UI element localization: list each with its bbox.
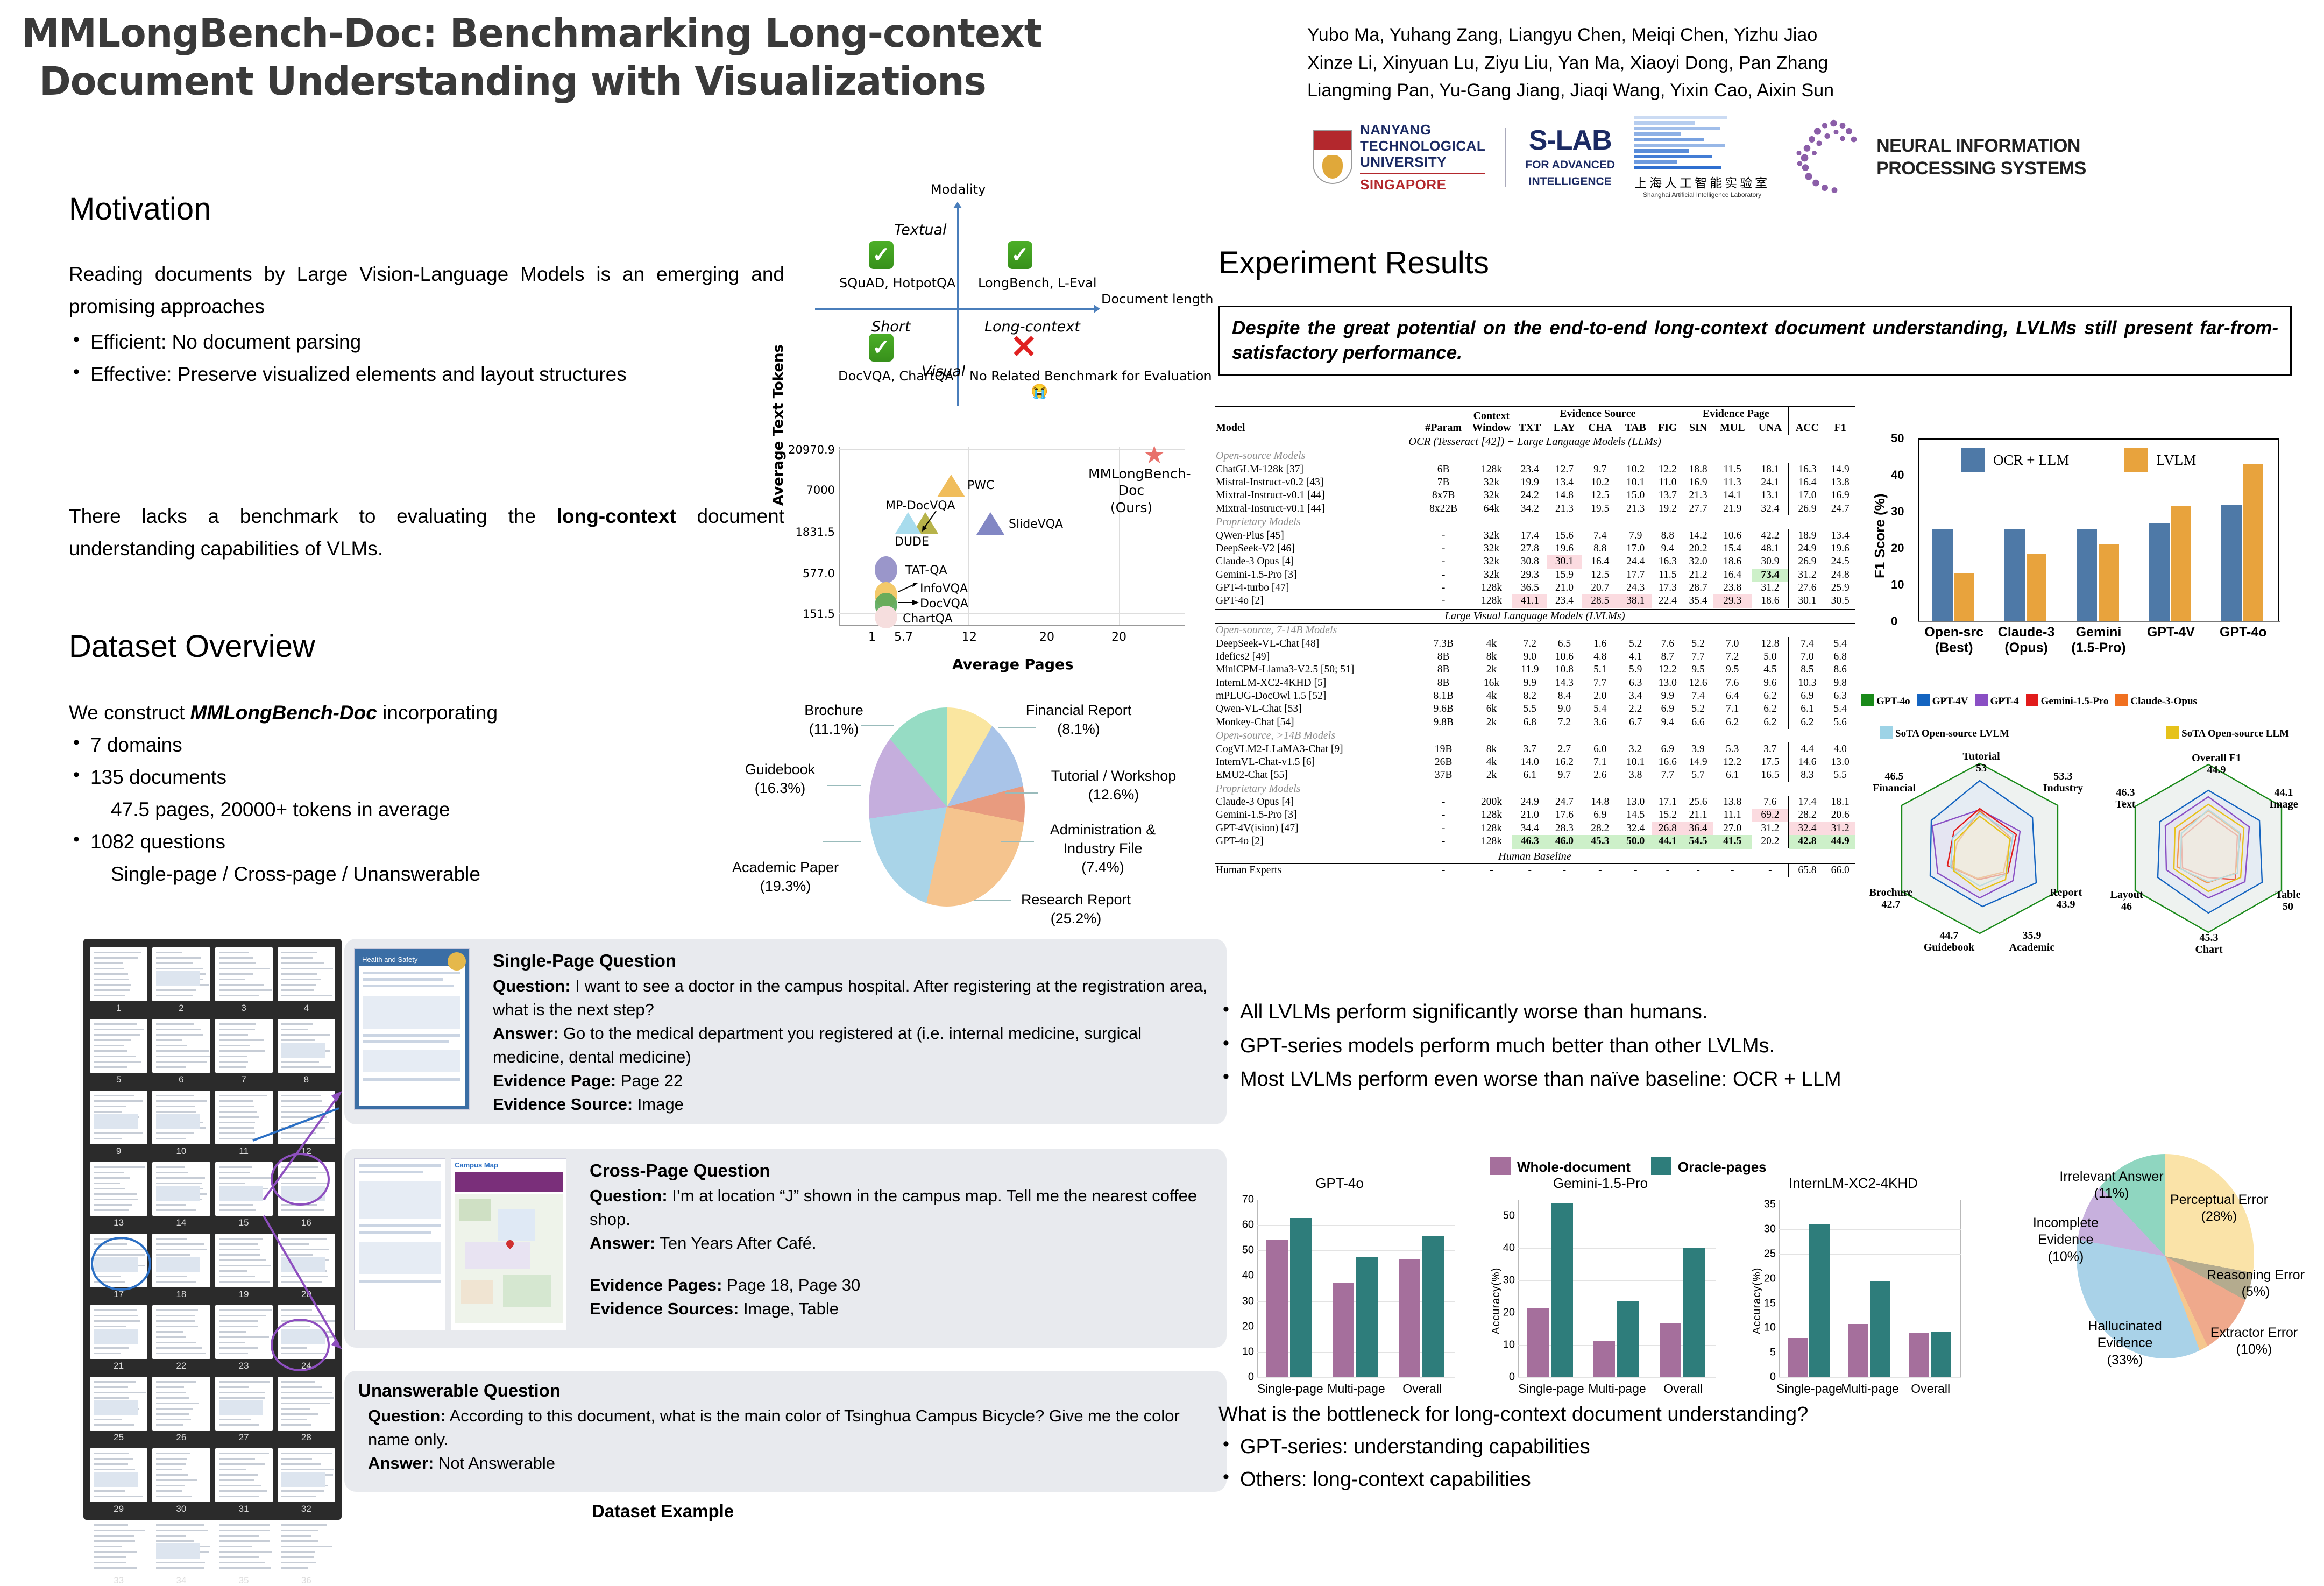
table-cell-context: 128k: [1471, 835, 1512, 849]
table-cell-value: 6.2: [1713, 716, 1752, 729]
radar-charts: GPT-4o GPT-4V GPT-4 Gemini-1.5-Pro Claud…: [1856, 689, 2308, 958]
thumbnail-cell[interactable]: 9: [90, 1091, 147, 1157]
table-cell-value: 6.1: [1512, 769, 1547, 782]
f1chart-bar: [1954, 573, 1974, 621]
table-cell-model: DeepSeek-V2 [46]: [1215, 542, 1416, 555]
table-section-row: Large Visual Language Models (LVLMs): [1215, 608, 1855, 623]
thumbnail-cell[interactable]: 36: [278, 1520, 335, 1586]
thumbnail-page[interactable]: [215, 1305, 273, 1359]
pie-label-brochure: Brochure (11.1%): [780, 701, 888, 739]
table-cell-value: 9.6: [1752, 677, 1788, 690]
th-fig: FIG: [1652, 421, 1683, 435]
thumbnail-cell[interactable]: 26: [152, 1377, 210, 1443]
table-cell-value: 34.2: [1512, 502, 1547, 515]
thumbnail-page[interactable]: [215, 947, 273, 1001]
motivation-lead: Reading documents by Large Vision-Langua…: [69, 258, 784, 323]
checkmark-icon-visual-short: ✓: [869, 334, 894, 362]
thumbnail-page[interactable]: [152, 1234, 210, 1287]
table-cell-value: 8.4: [1547, 690, 1582, 703]
table-cell-value: 9.4: [1652, 716, 1683, 729]
quadrant-y-axis-label: Modality: [931, 182, 986, 197]
f1chart-bar: [2149, 523, 2170, 621]
table-cell-value: 8.2: [1512, 690, 1547, 703]
bar-chart-y-tick: 30: [1756, 1223, 1776, 1236]
table-row: Mistral-Instruct-v0.2 [43]7B32k19.913.41…: [1215, 476, 1855, 489]
thumbnail-cell[interactable]: 21: [90, 1305, 147, 1371]
table-cell-value: 18.8: [1683, 463, 1713, 476]
thumbnail-cell[interactable]: 34: [152, 1520, 210, 1586]
thumbnail-page[interactable]: [90, 1520, 147, 1574]
thumbnail-cell[interactable]: 13: [90, 1162, 147, 1228]
thumbnail-cell[interactable]: 22: [152, 1305, 210, 1371]
scatter-point-chartqa-label: ChartQA: [903, 612, 953, 626]
single-page-evidence-source-value: Image: [633, 1095, 684, 1114]
scatter-y-tick-1: 577.0: [785, 567, 835, 580]
table-cell-value: 6.3: [1825, 690, 1855, 703]
table-cell-value: 16.4: [1789, 476, 1825, 489]
table-row: InternVL-Chat-v1.5 [6]26B4k14.016.27.110…: [1215, 756, 1855, 769]
table-cell-value: 3.7: [1512, 742, 1547, 755]
thumbnail-page[interactable]: [278, 947, 335, 1001]
table-cell-value: 7.4: [1789, 637, 1825, 650]
cross-page-question: Question: I’m at location “J” shown in t…: [590, 1184, 1213, 1231]
thumbnail-page[interactable]: [90, 1305, 147, 1359]
table-cell-value: 48.1: [1752, 542, 1788, 555]
errpie-label-incomplete: Incomplete Evidence(10%): [2009, 1215, 2122, 1265]
bar-chart-y-tick: 0: [1496, 1371, 1515, 1384]
table-cell-value: 11.3: [1713, 476, 1752, 489]
bar-chart-bar: [1809, 1224, 1829, 1377]
bottom-legend-whole: Whole-document: [1490, 1157, 1631, 1176]
cross-page-thumbnail-map: Campus Map: [451, 1158, 566, 1330]
table-cell-value: 21.9: [1713, 502, 1752, 515]
radar-label-tutorial: Tutorial53: [1946, 750, 2016, 775]
table-cell-value: 5.4: [1582, 703, 1619, 716]
scatter-arrow-infovqa-icon: [897, 582, 921, 594]
table-row: DeepSeek-V2 [46]-32k27.819.68.817.09.420…: [1215, 542, 1855, 555]
table-cell-context: 16k: [1471, 677, 1512, 690]
table-cell-value: 30.9: [1752, 555, 1788, 568]
table-cell-value: 13.0: [1652, 677, 1683, 690]
thumbnail-page-number: 30: [152, 1504, 210, 1514]
thumbnail-page-number: 2: [152, 1003, 210, 1014]
f1-score-bar-chart: F1 Score (%) 01020304050 Open-src(Best)C…: [1859, 417, 2305, 675]
table-cell-model: Mixtral-Instruct-v0.1 [44]: [1215, 489, 1416, 502]
table-cell-value: 14.8: [1547, 489, 1582, 502]
table-cell-value: 12.2: [1713, 756, 1752, 769]
th-cha: CHA: [1582, 421, 1619, 435]
table-cell-value: 6.3: [1619, 677, 1652, 690]
single-page-question-text: I want to see a doctor in the campus hos…: [493, 976, 1207, 1019]
single-page-question-card: Health and Safety Single-Page Question Q…: [344, 939, 1227, 1124]
scatter-x-tick-0: 1: [868, 631, 876, 644]
modality-length-quadrant-diagram: Modality Document length Textual Short L…: [769, 178, 1243, 414]
bar-chart-bar: [1333, 1283, 1354, 1377]
bar-chart-gridline: [1779, 1377, 1961, 1378]
th-txt: TXT: [1512, 421, 1547, 435]
bar-chart-y-tick: 50: [1496, 1210, 1515, 1222]
table-cell-model: Gemini-1.5-Pro [3]: [1215, 809, 1416, 822]
pie-label-guidebook: Guidebook (16.3%): [726, 760, 834, 798]
table-cell-context: 2k: [1471, 663, 1512, 676]
thumbnail-page[interactable]: [278, 1520, 335, 1574]
pie-label-financial: Financial Report (8.1%): [1011, 701, 1146, 739]
thumbnail-page[interactable]: [215, 1448, 273, 1502]
thumbnail-page[interactable]: [90, 1019, 147, 1073]
thumbnail-page[interactable]: [152, 1305, 210, 1359]
thumbnail-page-number: 25: [90, 1432, 147, 1443]
cross-page-answer-label: Answer:: [590, 1234, 655, 1252]
motivation-heading: Motivation: [69, 191, 211, 227]
single-page-question-label: Question:: [493, 976, 571, 995]
bar-chart-x-tick: Overall: [1386, 1382, 1458, 1396]
thumbnail-page[interactable]: [152, 947, 210, 1001]
thumbnail-page[interactable]: [152, 1520, 210, 1574]
pie-label-brochure-text: Brochure: [804, 702, 863, 718]
thumbnail-page-number: 4: [278, 1003, 335, 1014]
unanswerable-question: Question: According to this document, wh…: [358, 1404, 1213, 1452]
thumbnail-page[interactable]: [152, 1162, 210, 1216]
table-cell-value: 6.6: [1683, 716, 1713, 729]
results-table: Model #Param ContextWindow Evidence Sour…: [1215, 406, 1855, 877]
table-cell-value: 14.0: [1512, 756, 1547, 769]
thumbnail-page-number: 3: [215, 1003, 273, 1014]
motivation-bullet-list: Efficient: No document parsing Effective…: [69, 326, 784, 391]
thumbnail-cell[interactable]: 31: [215, 1448, 273, 1514]
table-cell-value: 8.8: [1652, 529, 1683, 542]
thumbnail-cell[interactable]: 14: [152, 1162, 210, 1228]
thumbnail-cell[interactable]: 3: [215, 947, 273, 1014]
table-cell-context: 4k: [1471, 637, 1512, 650]
single-page-card-title: Single-Page Question: [493, 951, 1213, 971]
table-cell-value: 6.2: [1752, 703, 1788, 716]
table-cell-value: 16.3: [1789, 463, 1825, 476]
pie-label-research-value: (25.2%): [1051, 910, 1102, 926]
shanghai-bars-icon: [1634, 116, 1731, 169]
table-cell-value: 6.0: [1582, 742, 1619, 755]
error-type-pie-chart: Perceptual Error(28%) Reasoning Error(5%…: [1990, 1135, 2324, 1372]
table-cell-value: 13.0: [1825, 756, 1855, 769]
thumbnail-cell[interactable]: 23: [215, 1305, 273, 1371]
bar-chart-x-tick: Multi-page: [1581, 1382, 1654, 1396]
table-cell-param: 6B: [1416, 463, 1471, 476]
thumbnail-page[interactable]: [215, 1377, 273, 1431]
cross-page-evidence-pages-label: Evidence Pages:: [590, 1276, 722, 1294]
table-cell-model: Mistral-Instruct-v0.2 [43]: [1215, 476, 1416, 489]
thumbnail-cell[interactable]: 15: [215, 1162, 273, 1228]
table-cell-context: 32k: [1471, 569, 1512, 582]
table-cell-value: 31.2: [1825, 822, 1855, 835]
bar-chart-gridline: [1779, 1229, 1961, 1230]
table-cell-value: 11.0: [1652, 476, 1683, 489]
thumbnail-page-number: 16: [278, 1217, 335, 1228]
table-cell-value: 12.2: [1652, 463, 1683, 476]
radar-label-industry: 53.3Industry: [2028, 770, 2098, 795]
quadrant-item-docvqa: DocVQA, ChartQA: [838, 369, 954, 384]
scatter-y-tick-3: 7000: [785, 484, 835, 497]
table-cell-value: 10.2: [1582, 476, 1619, 489]
table-cell-value: 6.1: [1713, 769, 1752, 782]
table-cell-value: -: [1713, 863, 1752, 877]
scatter-gridline: [839, 532, 1185, 532]
table-cell-value: 23.4: [1547, 594, 1582, 608]
thumbnail-page[interactable]: [215, 1234, 273, 1287]
thumbnail-page-number: 19: [215, 1289, 273, 1300]
thumbnail-cell[interactable]: 8: [278, 1019, 335, 1085]
unanswerable-card-title: Unanswerable Question: [358, 1380, 1213, 1401]
table-cell-context: 8k: [1471, 742, 1512, 755]
table-cell-value: 50.0: [1619, 835, 1652, 849]
pie-leader-line: [974, 900, 1011, 901]
dataset-name-bold: MMLongBench-Doc: [190, 702, 377, 724]
table-cell-value: 28.2: [1582, 822, 1619, 835]
table-cell-context: 64k: [1471, 502, 1512, 515]
f1chart-bar: [2221, 505, 2242, 621]
table-cell-value: 23.4: [1512, 463, 1547, 476]
thumbnail-cell[interactable]: 12: [278, 1091, 335, 1157]
table-cell-value: 6.1: [1789, 703, 1825, 716]
table-cell-model: EMU2-Chat [55]: [1215, 769, 1416, 782]
table-cell-context: 2k: [1471, 716, 1512, 729]
thumbnail-cell[interactable]: 29: [90, 1448, 147, 1514]
thumbnail-cell[interactable]: 7: [215, 1019, 273, 1085]
th-tab: TAB: [1619, 421, 1652, 435]
unanswerable-question-label: Question:: [368, 1406, 446, 1425]
thumbnail-page[interactable]: [278, 1377, 335, 1431]
table-cell-value: 7.7: [1683, 650, 1713, 663]
table-cell-value: 10.2: [1619, 463, 1652, 476]
cross-page-thumb-title: Campus Map: [451, 1159, 566, 1171]
table-cell-value: -: [1619, 863, 1652, 877]
quadrant-item-none: No Related Benchmark for Evaluation: [969, 369, 1212, 384]
table-cell-value: 24.7: [1547, 796, 1582, 809]
thumbnail-page[interactable]: [278, 1234, 335, 1287]
thumbnail-page[interactable]: [90, 1091, 147, 1144]
table-cell-model: GPT-4o [2]: [1215, 835, 1416, 849]
radar-legend-row-2: SoTA Open-source LVLM SoTA Open-source L…: [1880, 726, 2289, 740]
radar-legend-gpt4o: GPT-4o: [1861, 694, 1910, 707]
table-cell-value: 31.2: [1752, 822, 1788, 835]
table-cell-value: 10.1: [1619, 476, 1652, 489]
document-thumbnail-panel: 1234567891011121314151617181920212223242…: [83, 939, 342, 1520]
slab-sub-1: FOR ADVANCED: [1525, 157, 1615, 174]
bar-chart-y-tick: 40: [1235, 1270, 1254, 1282]
table-cell-value: 24.3: [1619, 582, 1652, 594]
pie-leader-line: [1005, 792, 1038, 794]
neurips-line-2: PROCESSING SYSTEMS: [1876, 157, 2086, 180]
thumbnail-page[interactable]: [152, 1377, 210, 1431]
table-cell-value: 32.0: [1683, 555, 1713, 568]
th-mul: MUL: [1713, 421, 1752, 435]
dataset-lead-a: We construct: [69, 702, 190, 724]
table-cell-value: 13.0: [1619, 796, 1652, 809]
table-cell-param: -: [1416, 529, 1471, 542]
thumbnail-page[interactable]: [152, 1091, 210, 1144]
table-cell-value: 10.6: [1713, 529, 1752, 542]
table-cell-value: 15.6: [1547, 529, 1582, 542]
thumbnail-cell[interactable]: 30: [152, 1448, 210, 1514]
bar-chart-bar: [1290, 1218, 1312, 1377]
thumbnail-page-number: 8: [278, 1074, 335, 1085]
thumbnail-page-number: 15: [215, 1217, 273, 1228]
table-row: Mixtral-Instruct-v0.1 [44]8x7B32k24.214.…: [1215, 489, 1855, 502]
table-cell-value: 20.2: [1683, 542, 1713, 555]
pie-leader-line: [823, 841, 861, 842]
thumbnail-page[interactable]: [152, 1448, 210, 1502]
thumbnail-page[interactable]: [152, 1019, 210, 1073]
scatter-y-tick-0: 151.5: [785, 607, 835, 620]
bar-chart-y-tick: 0: [1756, 1371, 1776, 1384]
table-cell-value: 14.5: [1619, 809, 1652, 822]
table-cell-value: 26.9: [1789, 502, 1825, 515]
table-cell-value: 54.5: [1683, 835, 1713, 849]
table-cell-value: 13.7: [1652, 489, 1683, 502]
table-cell-param: 19B: [1416, 742, 1471, 755]
thumbnail-page[interactable]: [278, 1091, 335, 1144]
scatter-point-infovqa-label: InfoVQA: [920, 582, 968, 596]
table-cell-value: 16.2: [1547, 756, 1582, 769]
table-cell-context: 128k: [1471, 809, 1512, 822]
table-cell-value: 31.2: [1789, 569, 1825, 582]
radar-label-chart: 45.3Chart: [2177, 932, 2241, 956]
single-page-question: Question: I want to see a doctor in the …: [493, 974, 1213, 1022]
scatter-point-mmlongbench-marker: ★: [1143, 442, 1165, 467]
table-cell-value: 18.6: [1752, 594, 1788, 608]
bar-chart-x-tick: Overall: [1647, 1382, 1719, 1396]
table-cell-value: 3.7: [1752, 742, 1788, 755]
table-cell-value: 20.7: [1582, 582, 1619, 594]
table-cell-value: 2.0: [1582, 690, 1619, 703]
motivation-bullet-2: Effective: Preserve visualized elements …: [69, 358, 784, 391]
table-cell-value: 8.8: [1582, 542, 1619, 555]
table-cell-value: 5.4: [1825, 637, 1855, 650]
cross-page-evidence-sources-value: Image, Table: [739, 1299, 839, 1318]
table-row: GPT-4-turbo [47]-128k36.521.020.724.317.…: [1215, 582, 1855, 594]
thumbnail-cell[interactable]: 25: [90, 1377, 147, 1443]
bar-chart-bar: [1683, 1248, 1705, 1377]
table-cell-value: 8.6: [1825, 663, 1855, 676]
table-cell-value: 7.2: [1547, 716, 1582, 729]
thumbnail-cell[interactable]: 32: [278, 1448, 335, 1514]
bar-chart-gridline: [1257, 1200, 1455, 1200]
table-cell-value: 20.6: [1825, 809, 1855, 822]
thumbnail-page[interactable]: [215, 1520, 273, 1574]
table-cell-value: 16.6: [1652, 756, 1683, 769]
bar-chart-y-tick: 5: [1756, 1347, 1776, 1359]
radar-legend-sota-lvlm: SoTA Open-source LVLM: [1880, 726, 2009, 740]
table-cell-value: 27.0: [1713, 822, 1752, 835]
bar-chart-y-tick: 20: [1235, 1320, 1254, 1333]
cross-page-evidence-pages: Evidence Pages: Page 18, Page 30: [590, 1273, 1213, 1297]
thumbnail-page[interactable]: [90, 1377, 147, 1431]
thumbnail-page[interactable]: [90, 1448, 147, 1502]
pie-label-research-text: Research Report: [1021, 891, 1131, 908]
thumbnail-cell[interactable]: 6: [152, 1019, 210, 1085]
table-cell-model: Monkey-Chat [54]: [1215, 716, 1416, 729]
thumbnail-cell[interactable]: 5: [90, 1019, 147, 1085]
thumbnail-cell[interactable]: 10: [152, 1091, 210, 1157]
bar-chart-bar: [1551, 1203, 1572, 1377]
thumbnail-cell[interactable]: 28: [278, 1377, 335, 1443]
thumbnail-page-number: 18: [152, 1289, 210, 1300]
table-cell-value: 7.7: [1582, 677, 1619, 690]
table-cell-model: MiniCPM-Llama3-V2.5 [50; 51]: [1215, 663, 1416, 676]
errpie-label-reasoning: Reasoning Error(5%): [2194, 1267, 2318, 1301]
thumbnail-cell[interactable]: 19: [215, 1234, 273, 1300]
thumbnail-page[interactable]: [278, 1019, 335, 1073]
table-cell-value: 22.4: [1652, 594, 1683, 608]
thumbnail-page-number: 34: [152, 1575, 210, 1586]
table-cell-value: 19.2: [1652, 502, 1683, 515]
bottom-charts-legend: Whole-document Oracle-pages: [1490, 1157, 1767, 1176]
single-page-answer-text: Go to the medical department you registe…: [493, 1024, 1142, 1066]
thumbnail-page[interactable]: [215, 1091, 273, 1144]
cross-page-question-label: Question:: [590, 1186, 668, 1205]
table-cell-value: 41.5: [1713, 835, 1752, 849]
table-cell-value: 17.4: [1512, 529, 1547, 542]
thumbnail-page[interactable]: [215, 1162, 273, 1216]
table-cell-param: 7.3B: [1416, 637, 1471, 650]
author-list: Yubo Ma, Yuhang Zang, Liangyu Chen, Meiq…: [1307, 22, 1953, 105]
table-cell-model: InternVL-Chat-v1.5 [6]: [1215, 756, 1416, 769]
table-cell-value: 13.8: [1825, 476, 1855, 489]
table-cell-value: 17.1: [1652, 796, 1683, 809]
thumbnail-cell[interactable]: 33: [90, 1520, 147, 1586]
th-una: UNA: [1752, 421, 1788, 435]
table-cell-value: 12.5: [1582, 569, 1619, 582]
experiment-results-heading: Experiment Results: [1218, 245, 1489, 281]
thumbnail-cell[interactable]: 20: [278, 1234, 335, 1300]
thumbnail-cell[interactable]: 2: [152, 947, 210, 1014]
pie-label-guidebook-text: Guidebook: [745, 761, 816, 777]
table-cell-value: 27.7: [1683, 502, 1713, 515]
table-cell-value: 17.5: [1752, 756, 1788, 769]
table-cell-value: 5.6: [1825, 716, 1855, 729]
thumbnail-cell[interactable]: 18: [152, 1234, 210, 1300]
bar-chart-bar: [1788, 1338, 1808, 1377]
table-cell-value: 3.2: [1619, 742, 1652, 755]
bar-chart-bar: [1617, 1301, 1639, 1377]
thumbnail-cell[interactable]: 4: [278, 947, 335, 1014]
f1chart-y-tick: 40: [1891, 468, 1904, 482]
thumbnail-page[interactable]: [215, 1019, 273, 1073]
radar-legend-gemini: Gemini-1.5-Pro: [2026, 694, 2109, 707]
scatter-x-tick-2: 12: [962, 631, 977, 644]
f1chart-bar: [2027, 554, 2047, 621]
scatter-point-slidevqa-label: SlideVQA: [1009, 518, 1063, 531]
table-cell-value: 14.3: [1547, 677, 1582, 690]
single-page-evidence-page: Evidence Page: Page 22: [493, 1069, 1213, 1093]
table-cell-value: 23.8: [1713, 582, 1752, 594]
thumbnail-page[interactable]: [278, 1448, 335, 1502]
thumbnail-page[interactable]: [90, 947, 147, 1001]
thumbnail-page[interactable]: [90, 1162, 147, 1216]
table-cell-param: 37B: [1416, 769, 1471, 782]
thumbnail-cell[interactable]: 11: [215, 1091, 273, 1157]
thumbnail-page-number: 1: [90, 1003, 147, 1014]
thumbnail-cell[interactable]: 27: [215, 1377, 273, 1443]
table-cell-value: 66.0: [1825, 863, 1855, 877]
cross-page-card-title: Cross-Page Question: [590, 1160, 1213, 1181]
thumbnail-cell[interactable]: 35: [215, 1520, 273, 1586]
domain-distribution-pie-chart: Brochure (11.1%) Financial Report (8.1%)…: [678, 675, 1227, 939]
thumbnail-cell[interactable]: 1: [90, 947, 147, 1014]
radar-legend-gpt4: GPT-4: [1975, 694, 2019, 707]
f1chart-legend-label-ocr: OCR + LLM: [1993, 452, 2069, 469]
radar-label-image: 44.1Image: [2254, 787, 2313, 811]
table-cell-value: 7.6: [1652, 637, 1683, 650]
table-row: CogVLM2-LLaMA3-Chat [9]19B8k3.72.76.03.2…: [1215, 742, 1855, 755]
